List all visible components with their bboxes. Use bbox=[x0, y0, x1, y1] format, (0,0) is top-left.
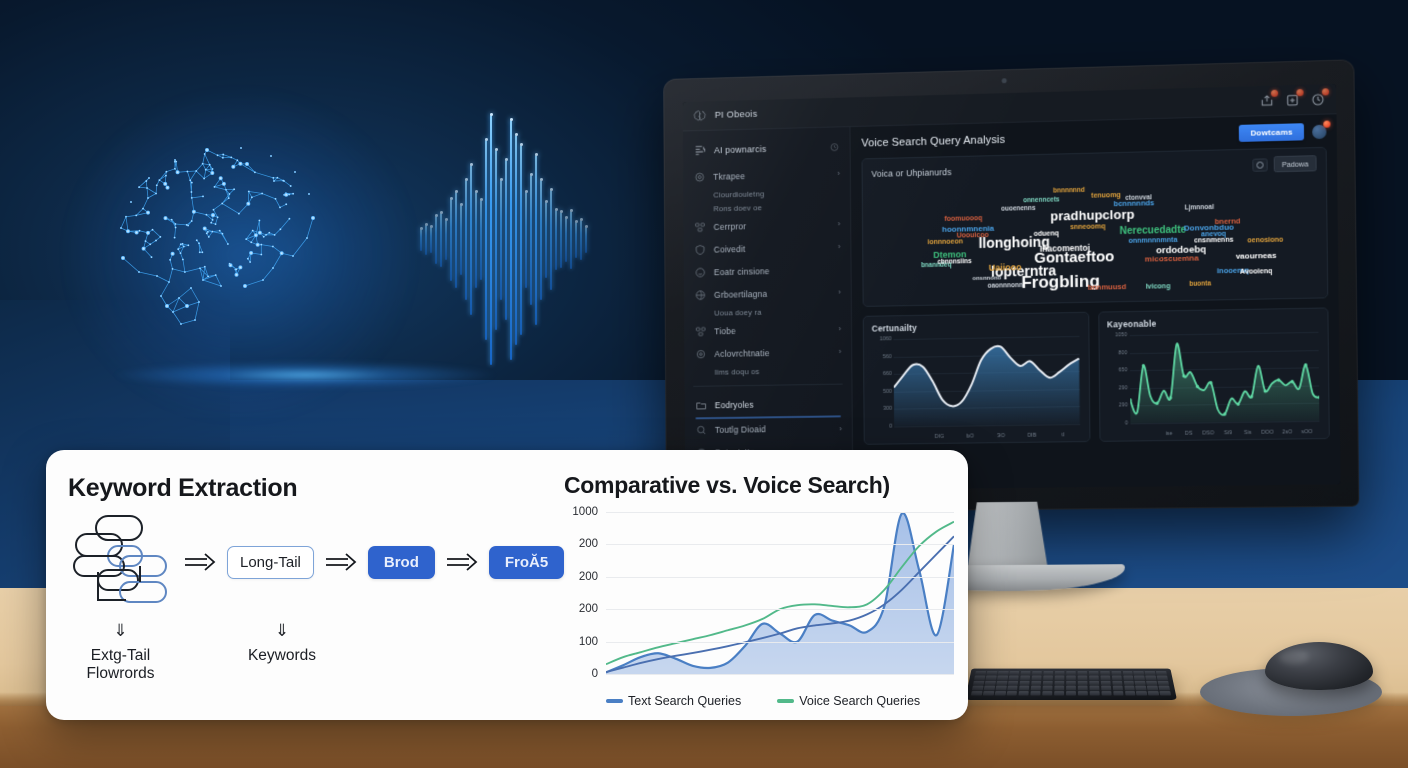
waveform-bar bbox=[530, 175, 532, 305]
main-actions: Dowtcams bbox=[1239, 123, 1326, 142]
waveform-bar bbox=[480, 200, 482, 280]
waveform-bar bbox=[440, 213, 442, 267]
waveform-bar bbox=[540, 180, 542, 300]
waveform-bar bbox=[510, 120, 512, 360]
chevron-right-icon: › bbox=[839, 347, 842, 356]
waveform-bar bbox=[500, 180, 502, 300]
word-cloud-term: bnernd bbox=[1215, 217, 1241, 225]
legend-swatch bbox=[777, 699, 794, 704]
sidebar-item-tiobe[interactable]: Tiobe › bbox=[684, 317, 851, 343]
chart-plot-area bbox=[606, 512, 954, 674]
waveform-bar bbox=[420, 229, 422, 251]
waveform-bar bbox=[465, 180, 467, 300]
waveform-bar bbox=[515, 135, 517, 345]
mini-chart-y-label: 650 bbox=[1107, 367, 1127, 373]
mini-chart-y-label: 290 bbox=[1108, 403, 1128, 409]
chart-gridline bbox=[606, 577, 954, 578]
chevron-right-icon: › bbox=[839, 324, 842, 333]
sidebar-item-toutlg-dioaid[interactable]: Toutlg Dioaid › bbox=[685, 417, 852, 442]
chart-legend: Text Search Queries Voice Search Queries bbox=[606, 694, 920, 708]
timer-icon[interactable] bbox=[829, 141, 840, 152]
refresh-circle-icon[interactable] bbox=[1252, 158, 1267, 171]
waveform-bar bbox=[575, 222, 577, 258]
waveform-bar bbox=[460, 205, 462, 275]
panel-chart-title: Comparative vs. Voice Search) bbox=[564, 472, 950, 499]
word-cloud-term: buonta bbox=[1189, 281, 1211, 288]
flow-network-icon bbox=[68, 512, 173, 612]
chart-y-tick-label: 200 bbox=[564, 538, 598, 550]
sidebar-header[interactable]: AI pownarcis bbox=[683, 134, 850, 166]
mini-chart-y-label: 0 bbox=[872, 424, 892, 430]
history-clock-icon[interactable] bbox=[1311, 92, 1325, 106]
chevron-right-icon: › bbox=[838, 219, 841, 228]
wordcloud-card: Voica or Uhpianurds Padowa FrogblingGont… bbox=[862, 147, 1329, 307]
flow-arrow-icon bbox=[183, 551, 217, 573]
avatar[interactable] bbox=[1312, 124, 1326, 138]
long-tail-caption: Keywords bbox=[222, 647, 342, 665]
mini-chart-y-label: 290 bbox=[1107, 385, 1127, 391]
brain-network-svg bbox=[95, 110, 385, 400]
legend-item[interactable]: Text Search Queries bbox=[606, 694, 741, 708]
chart-gridline bbox=[606, 609, 954, 610]
add-square-icon[interactable] bbox=[1285, 93, 1299, 107]
waveform-bar bbox=[570, 211, 572, 269]
chart-gridline bbox=[606, 674, 954, 675]
waveform-bar bbox=[520, 145, 522, 335]
word-cloud: FrogblingGontaeftoolopterntrallonghoingp… bbox=[863, 170, 1328, 302]
sidebar-item-label: Aclovrchtnatie bbox=[714, 347, 831, 359]
word-cloud-term: bnnnnnnd bbox=[1053, 187, 1085, 194]
network-icon bbox=[694, 221, 706, 233]
word-cloud-term: Uaiiooo bbox=[989, 263, 1022, 273]
monitor-screen: PI Obeois bbox=[683, 84, 1341, 491]
notification-badge bbox=[1322, 88, 1329, 95]
sidebar-item-aclovrchtnatie[interactable]: Aclovrchtnatie › bbox=[684, 340, 851, 365]
notification-badge bbox=[1323, 120, 1330, 127]
word-cloud-term: ouoenenns bbox=[1001, 205, 1036, 212]
waveform-bar bbox=[470, 165, 472, 315]
flow-arrow-icon bbox=[445, 551, 479, 573]
app-sidebar: AI pownarcis Tkrapee ›CiourdiouletngRons… bbox=[683, 127, 853, 491]
flow-icon-caption-group: ⇓ Extg-Tail Flowrords bbox=[68, 622, 173, 684]
mini-chart-x-label: DЅ bbox=[1185, 431, 1193, 437]
smiley-icon bbox=[694, 266, 706, 278]
app-brand-name: PI Obeois bbox=[715, 109, 758, 121]
mini-chart-x-label: DIB bbox=[1027, 433, 1036, 439]
chart-gridline bbox=[606, 512, 954, 513]
word-cloud-term: anevoq bbox=[1201, 230, 1226, 238]
word-cloud-term: Ihacomentoj bbox=[1040, 243, 1090, 253]
waveform-bar bbox=[475, 192, 477, 288]
waveform-bar bbox=[565, 218, 567, 262]
shield-icon bbox=[694, 243, 706, 255]
folder-icon bbox=[695, 399, 707, 411]
notification-badge bbox=[1271, 89, 1278, 96]
sidebar-item-label: Grboertilagna bbox=[714, 287, 831, 299]
word-cloud-term: oaonnnonn bbox=[988, 282, 1023, 289]
word-cloud-term: tenuomg bbox=[1091, 191, 1121, 199]
bar-chart-icon bbox=[694, 144, 707, 157]
chart-y-tick-label: 200 bbox=[564, 571, 598, 583]
long-tail-caption-group: ⇓ Keywords bbox=[222, 622, 342, 665]
mini-chart-x-label: DIG bbox=[935, 434, 945, 440]
flow-step-brod[interactable]: Brod bbox=[368, 546, 435, 579]
sidebar-item-eoatr-cinsione[interactable]: Eoatr cinsione bbox=[684, 258, 851, 284]
legend-swatch bbox=[606, 699, 623, 704]
main-header: Voice Search Query Analysis Dowtcams bbox=[861, 123, 1326, 152]
word-cloud-term: Ivicong bbox=[1146, 283, 1171, 290]
mini-chart-x-label: ЬO bbox=[966, 433, 974, 439]
mini-chart-x-label: Sіѕ bbox=[1244, 430, 1252, 436]
globe-icon bbox=[695, 289, 707, 301]
sidebar-item-label: Eoatr cinsione bbox=[714, 264, 833, 276]
wireframe-brain-graphic bbox=[95, 110, 385, 400]
mini-chart-y-label: 300 bbox=[872, 406, 892, 412]
chevron-right-icon: › bbox=[839, 424, 842, 433]
gear-icon bbox=[695, 348, 707, 360]
mini-chart-plot: 10508006502902900іѕеDЅDЅOSі9SіѕDОO2ѕOѕOO bbox=[1105, 332, 1321, 424]
word-cloud-term: Avooienq bbox=[1240, 267, 1272, 275]
notification-badge bbox=[1296, 88, 1303, 95]
mini-chart-y-label: 660 bbox=[872, 371, 892, 377]
app-main-content: Voice Search Query Analysis Dowtcams Voi… bbox=[850, 114, 1340, 489]
primary-action-button[interactable]: Dowtcams bbox=[1239, 123, 1304, 142]
chevron-right-icon: › bbox=[838, 288, 841, 297]
mini-chart-x-label: tl bbox=[1062, 432, 1065, 438]
word-cloud-term: ionnnoeon bbox=[927, 238, 962, 246]
word-cloud-term: oenosiono bbox=[1247, 236, 1283, 244]
mini-chart-plot: 10605606605003000DIGЬOЭODIBtl bbox=[870, 336, 1082, 427]
mini-chart-x-label: ѕOO bbox=[1301, 429, 1312, 435]
waveform-bar bbox=[485, 140, 487, 340]
mini-chart-y-label: 560 bbox=[872, 354, 892, 360]
panel-right-section: Comparative vs. Voice Search) 1000200200… bbox=[546, 450, 968, 720]
sidebar-item-label: Tkrapee bbox=[713, 169, 829, 182]
chevron-right-icon: › bbox=[837, 169, 840, 178]
mini-chart-series bbox=[893, 336, 1079, 427]
wordcloud-title: Voica or Uhpianurds bbox=[871, 167, 951, 179]
chart-y-tick-label: 100 bbox=[564, 636, 598, 648]
mini-chart-row: Certunailty 10605606605003000DIGЬOЭODIBt… bbox=[863, 307, 1330, 444]
panel-left-title: Keyword Extraction bbox=[68, 474, 546, 503]
mini-chart-x-label: іѕе bbox=[1166, 431, 1173, 437]
mini-chart-x-label: DЅO bbox=[1202, 430, 1214, 436]
waveform-bar bbox=[455, 192, 457, 288]
waveform-bar bbox=[525, 192, 527, 288]
word-cloud-term: onsnnono bbox=[972, 276, 1001, 283]
mini-chart-title: Kayeonable bbox=[1107, 316, 1320, 330]
target-icon bbox=[694, 171, 706, 183]
waveform-bar bbox=[445, 220, 447, 260]
search-icon bbox=[696, 424, 708, 436]
word-cloud-term: oduenq bbox=[1034, 230, 1059, 238]
mini-chart-y-label: 1060 bbox=[872, 336, 892, 342]
waveform-bar bbox=[450, 199, 452, 281]
word-cloud-term: Ljmnnoal bbox=[1185, 205, 1214, 212]
sidebar-item-label: Eodryoles bbox=[715, 398, 842, 410]
down-arrow-icon: ⇓ bbox=[222, 622, 342, 639]
chart-y-tick-label: 1000 bbox=[564, 506, 598, 518]
app-body: AI pownarcis Tkrapee ›CiourdiouletngRons… bbox=[683, 114, 1341, 491]
mini-chart-x-label: 2ѕO bbox=[1282, 429, 1292, 435]
sidebar-divider bbox=[693, 384, 842, 387]
mini-chart-card: Certunailty 10605606605003000DIGЬOЭODIBt… bbox=[863, 312, 1090, 445]
grid-icon bbox=[695, 325, 707, 337]
infographic-panel: Keyword Extraction bbox=[46, 450, 968, 720]
sidebar-item-active[interactable]: Eodryoles bbox=[685, 391, 852, 416]
word-cloud-term: vaourneas bbox=[1236, 252, 1277, 261]
mini-chart-y-label: 1050 bbox=[1107, 332, 1127, 338]
word-cloud-term: onnmnnnmnta bbox=[1128, 236, 1177, 244]
legend-label: Voice Search Queries bbox=[799, 694, 920, 708]
mini-chart-title: Certunailty bbox=[872, 320, 1080, 334]
waveform-bar bbox=[495, 150, 497, 330]
page-title: Voice Search Query Analysis bbox=[861, 133, 1005, 149]
word-cloud-term: ctonvval bbox=[1125, 195, 1152, 202]
waveform-bar bbox=[435, 216, 437, 264]
mini-chart-y-label: 800 bbox=[1107, 350, 1127, 356]
legend-item[interactable]: Voice Search Queries bbox=[777, 694, 920, 708]
mini-chart-y-label: 0 bbox=[1108, 420, 1128, 426]
sidebar-header-label: AI pownarcis bbox=[714, 142, 821, 155]
waveform-bar bbox=[560, 212, 562, 268]
waveform-bar bbox=[550, 190, 552, 290]
chart-gridline bbox=[606, 544, 954, 545]
topbar-icon-group bbox=[1260, 92, 1325, 108]
keyboard bbox=[965, 669, 1177, 700]
audio-waveform-graphic bbox=[420, 95, 590, 385]
mini-chart-x-label: Sі9 bbox=[1224, 430, 1232, 436]
down-arrow-icon: ⇓ bbox=[68, 622, 173, 639]
legend-label: Text Search Queries bbox=[628, 694, 741, 708]
sidebar-item-label: Tiobe bbox=[714, 324, 831, 336]
mini-chart-x-label: DОO bbox=[1261, 430, 1274, 436]
chart-y-tick-label: 0 bbox=[564, 668, 598, 680]
word-cloud-term: snneoomq bbox=[1070, 223, 1106, 231]
waveform-bar bbox=[585, 227, 587, 253]
desktop-monitor: PI Obeois bbox=[663, 59, 1359, 513]
mini-chart-x-label: ЭO bbox=[997, 433, 1005, 439]
panel-left-section: Keyword Extraction bbox=[46, 450, 546, 720]
waveform-bar bbox=[430, 227, 432, 253]
waveform-bar bbox=[545, 202, 547, 278]
chart-gridline bbox=[606, 642, 954, 643]
chevron-right-icon: › bbox=[838, 242, 841, 251]
mini-chart-series bbox=[1129, 332, 1319, 424]
sidebar-item-label: Toutlg Dioaid bbox=[715, 423, 832, 434]
sidebar-item-label: Cerrpror bbox=[714, 219, 830, 231]
comparative-chart: 10002002002001000 bbox=[564, 512, 954, 674]
chart-y-tick-label: 200 bbox=[564, 603, 598, 615]
waveform-bar bbox=[580, 220, 582, 260]
sidebar-subitem[interactable]: Iims doqu os bbox=[684, 363, 851, 379]
sidebar-item-label: Coivedit bbox=[714, 242, 830, 254]
word-cloud-term: pradhupclorp bbox=[1050, 207, 1134, 222]
word-cloud-term: bnnmuusd bbox=[1088, 284, 1127, 292]
waveform-bar bbox=[535, 155, 537, 325]
keyword-flow-diagram: Long-Tail Brod FroĂ5 bbox=[68, 512, 564, 612]
mini-chart-card: Kayeonable 10508006502902900іѕеDЅDЅOSі9S… bbox=[1098, 307, 1330, 441]
brain-network-icon bbox=[692, 108, 707, 123]
word-cloud-term: foomuoooq bbox=[944, 215, 982, 223]
waveform-bar bbox=[555, 210, 557, 270]
flow-icon-caption: Extg-Tail Flowrords bbox=[68, 647, 173, 684]
webcam-dot bbox=[1001, 78, 1006, 83]
waveform-bar bbox=[425, 225, 427, 255]
sidebar-items: Tkrapee ›CiourdiouletngRons doev oe Cerr… bbox=[683, 162, 851, 379]
flow-step-long-tail[interactable]: Long-Tail bbox=[227, 546, 314, 579]
mini-chart-y-label: 500 bbox=[872, 389, 892, 395]
waveform-bar bbox=[505, 160, 507, 320]
sidebar-item-grboertilagna[interactable]: Grboertilagna › bbox=[684, 280, 851, 306]
word-cloud-term: cbnnnsiins bbox=[938, 259, 972, 266]
flow-arrow-icon bbox=[324, 551, 358, 573]
waveform-bar bbox=[490, 115, 492, 365]
share-export-icon[interactable] bbox=[1260, 93, 1274, 107]
word-cloud-term: micoscuemna bbox=[1145, 255, 1199, 264]
